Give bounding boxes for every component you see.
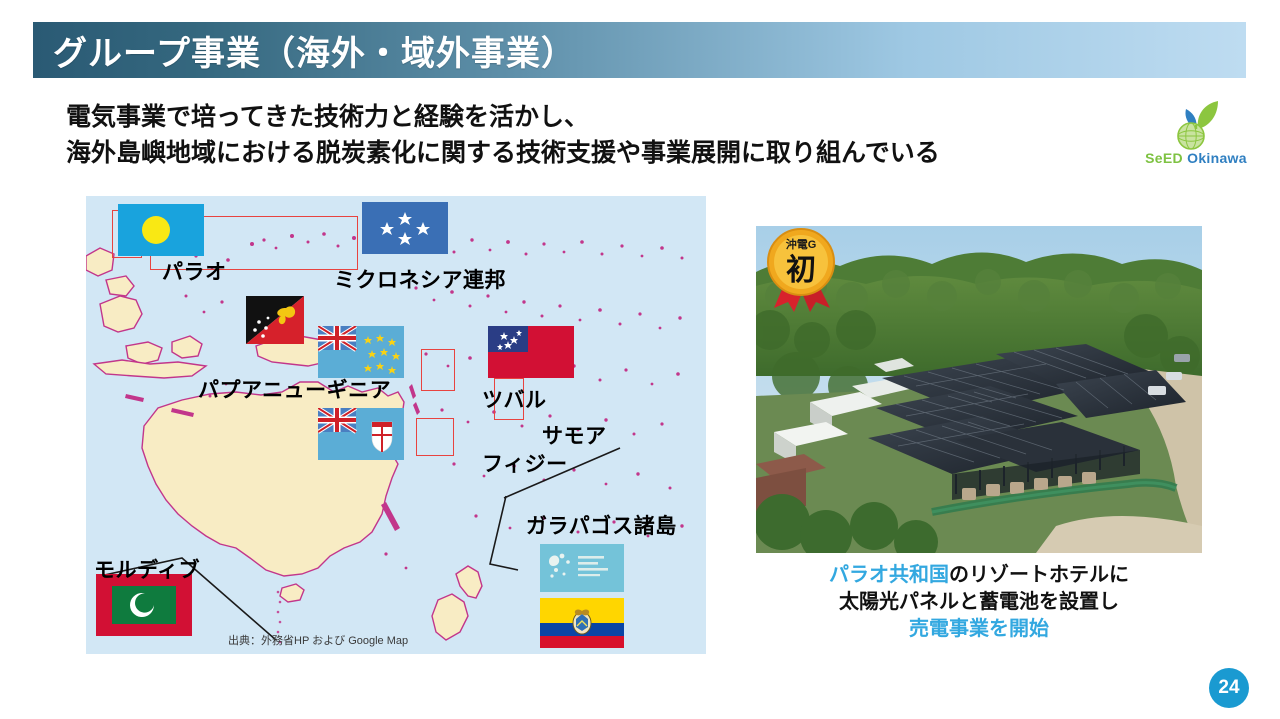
- flag-micronesia: [362, 202, 448, 254]
- map-source-note: 出典：外務省HP および Google Map: [228, 632, 408, 648]
- caption-line-1-rest: のリゾートホテルに: [949, 564, 1129, 586]
- caption-line-1: パラオ共和国のリゾートホテルに: [756, 562, 1202, 589]
- page-number-badge: 24: [1209, 668, 1249, 708]
- logo-wordmark: SeED Okinawa: [1140, 150, 1252, 166]
- sprout-globe-icon: [1160, 95, 1232, 151]
- map-label-palau: パラオ: [162, 256, 227, 286]
- slide-title-banner: グループ事業（海外・域外事業）: [33, 22, 1246, 78]
- flag-ecuador: [540, 598, 624, 648]
- first-achievement-badge: 沖電G 初: [762, 224, 840, 312]
- flag-samoa: [488, 326, 574, 378]
- subtitle-line-2: 海外島嶼地域における脱炭素化に関する技術支援や事業展開に取り組んでいる: [66, 136, 1126, 172]
- logo-text-okinawa: Okinawa: [1183, 150, 1247, 166]
- caption-line-2: 太陽光パネルと蓄電池を設置し: [756, 589, 1202, 616]
- flag-galapagos-province: [540, 544, 624, 592]
- highlight-box-fiji: [416, 418, 454, 456]
- map-label-galapagos: ガラパゴス諸島: [526, 510, 677, 540]
- map-label-papua-new-guinea: パプアニューギニア: [198, 374, 391, 404]
- page-number-label: 24: [1218, 677, 1239, 699]
- subtitle-line-1: 電気事業で培ってきた技術力と経験を活かし、: [66, 100, 1126, 136]
- caption-line-1-highlight: パラオ共和国: [829, 564, 949, 586]
- badge-top-label: 沖電G: [786, 237, 817, 251]
- oceania-map: パラオ ミクロネシア連邦 パプアニューギニア ツバル サモア フィジー ガラパゴ…: [86, 196, 706, 654]
- seed-okinawa-logo: SeED Okinawa: [1140, 95, 1252, 173]
- badge-main-label: 初: [786, 254, 816, 287]
- photo-caption: パラオ共和国のリゾートホテルに 太陽光パネルと蓄電池を設置し 売電事業を開始: [756, 562, 1202, 643]
- flag-palau: [118, 204, 204, 256]
- map-label-fiji: フィジー: [482, 448, 568, 478]
- flag-papua-new-guinea: [246, 296, 304, 344]
- map-label-maldives: モルディブ: [94, 554, 200, 584]
- subtitle-block: 電気事業で培ってきた技術力と経験を活かし、 海外島嶼地域における脱炭素化に関する…: [66, 100, 1126, 171]
- map-label-micronesia: ミクロネシア連邦: [334, 264, 506, 294]
- map-label-tuvalu: ツバル: [482, 384, 547, 414]
- caption-line-3: 売電事業を開始: [756, 616, 1202, 643]
- flag-tuvalu: [318, 326, 404, 378]
- flag-fiji: [318, 408, 404, 460]
- page-title: グループ事業（海外・域外事業）: [53, 26, 576, 75]
- logo-text-seed: SeED: [1145, 150, 1183, 166]
- highlight-box-tuvalu: [421, 349, 455, 391]
- map-label-samoa: サモア: [542, 420, 607, 450]
